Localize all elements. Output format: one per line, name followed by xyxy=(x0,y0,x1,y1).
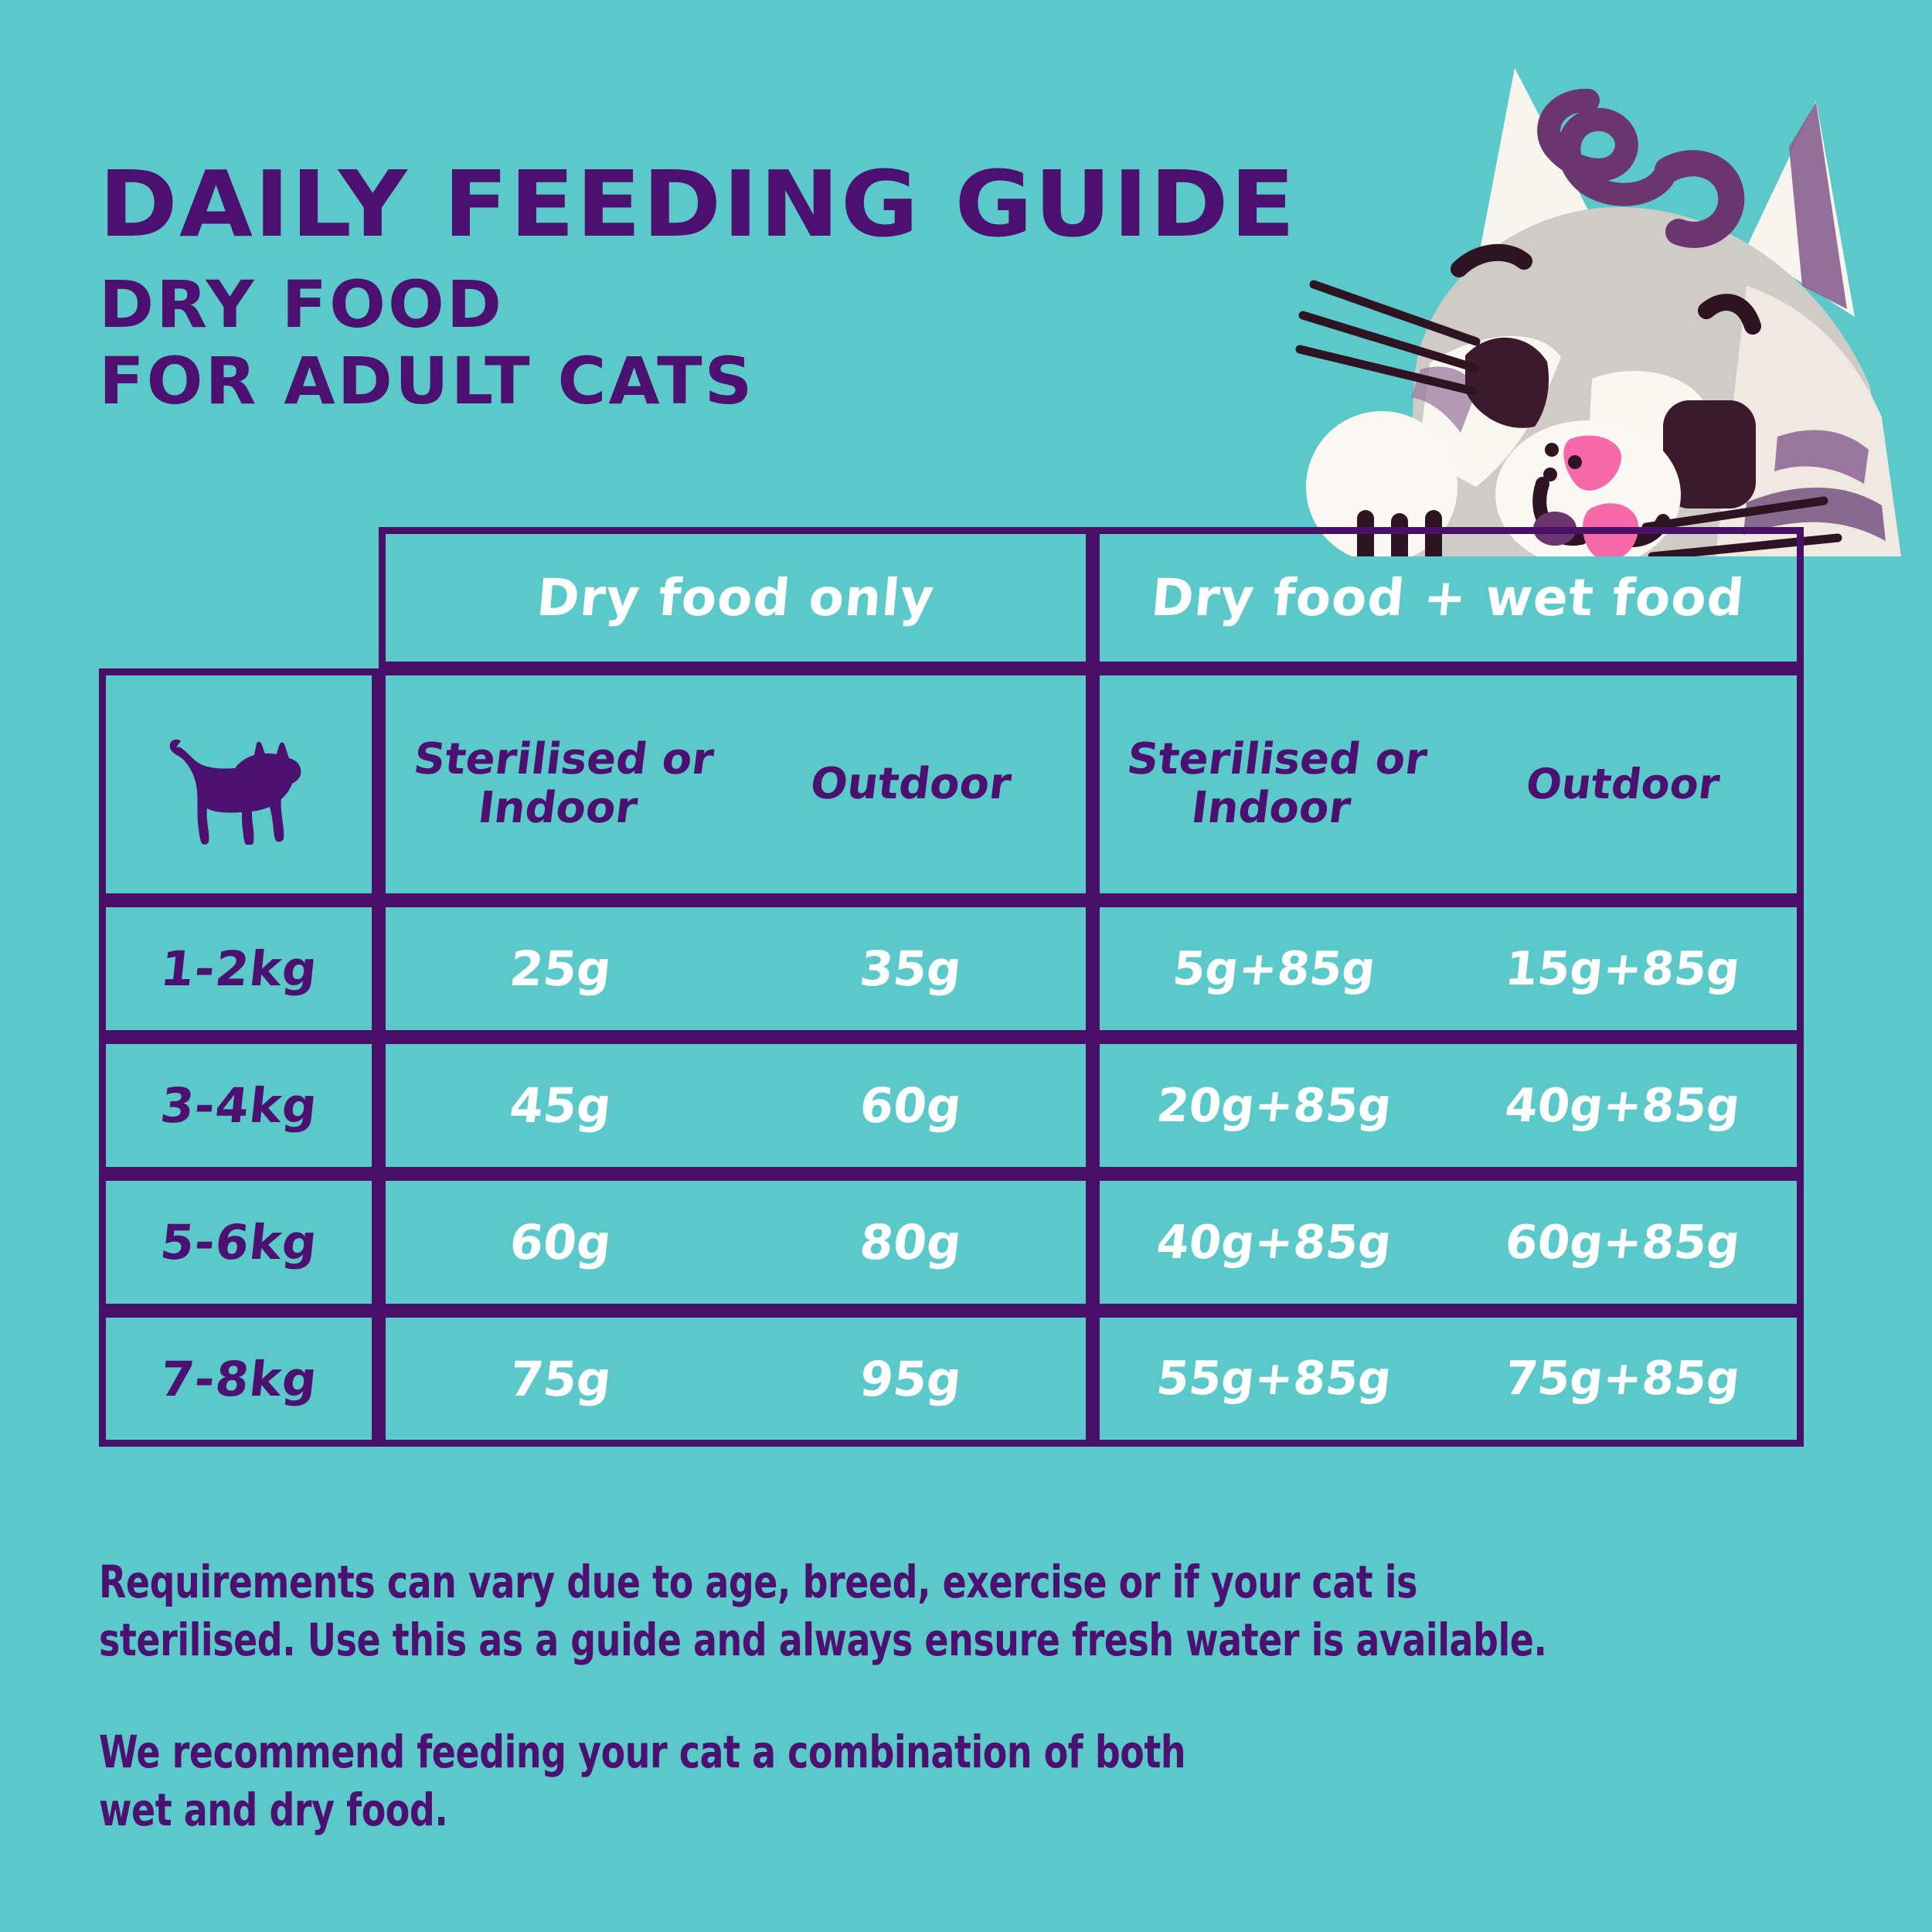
footer-note-text: Requirements can vary due to age, breed,… xyxy=(99,1553,1595,1670)
group-header-label: Dry food only xyxy=(535,568,937,628)
cell-mix-sterilised: 20g+85g xyxy=(1100,1079,1448,1133)
page-subtitle-1: DRY FOOD xyxy=(99,267,1274,343)
weight-label: 3-4kg xyxy=(158,1077,320,1134)
value: 35g xyxy=(857,940,964,997)
page-title: DAILY FEEDING GUIDE xyxy=(99,158,1297,250)
cell-dry-sterilised: 45g xyxy=(386,1077,736,1134)
peeking-cat-illustration xyxy=(1283,54,1932,556)
poster-canvas: DAILY FEEDING GUIDE DRY FOOD FOR ADULT C… xyxy=(0,0,1932,1932)
title-block: DAILY FEEDING GUIDE DRY FOOD FOR ADULT C… xyxy=(99,158,1250,420)
group-header-dry-plus-wet: Dry food + wet food xyxy=(1093,527,1804,668)
value: 80g xyxy=(857,1214,964,1270)
sub-header-cell-outdoor-dry: Outdoor xyxy=(736,760,1086,809)
value: 60g xyxy=(857,1077,964,1134)
row-dry-plus-wet: 20g+85g 40g+85g xyxy=(1093,1037,1804,1174)
cell-mix-outdoor: 15g+85g xyxy=(1448,942,1797,996)
value: 45g xyxy=(507,1077,614,1134)
value: 60g+85g xyxy=(1502,1216,1743,1270)
weight-label: 1-2kg xyxy=(158,940,320,997)
row-dry-only: 75g 95g xyxy=(379,1311,1093,1447)
table-row: 3-4kg xyxy=(99,1037,379,1174)
cell-dry-outdoor: 60g xyxy=(736,1077,1086,1134)
table-corner-cell xyxy=(99,668,379,900)
cell-mix-sterilised: 5g+85g xyxy=(1100,942,1448,996)
value: 55g+85g xyxy=(1154,1352,1394,1406)
footer-note-requirements: Requirements can vary due to age, breed,… xyxy=(99,1553,1799,1670)
value: 75g+85g xyxy=(1502,1352,1743,1406)
footer-note-recommendation: We recommend feeding your cat a combinat… xyxy=(99,1723,1799,1840)
footer-note-text: We recommend feeding your cat a combinat… xyxy=(99,1723,1595,1840)
sub-header-dry-only: Sterilised or Indoor Outdoor xyxy=(379,668,1093,900)
weight-label: 7-8kg xyxy=(158,1351,320,1407)
cell-dry-outdoor: 35g xyxy=(736,940,1086,997)
sub-header-dry-plus-wet: Sterilised or Indoor Outdoor xyxy=(1093,668,1804,900)
group-header-dry-only: Dry food only xyxy=(379,527,1093,668)
sub-header-cell-sterilised-indoor-mix: Sterilised or Indoor xyxy=(1100,736,1448,832)
sub-header-label: Sterilised or Indoor xyxy=(379,736,741,832)
group-header-label: Dry food + wet food xyxy=(1149,568,1747,628)
cell-dry-sterilised: 75g xyxy=(386,1351,736,1407)
cell-mix-outdoor: 60g+85g xyxy=(1448,1216,1797,1270)
cell-dry-sterilised: 25g xyxy=(386,940,736,997)
row-dry-plus-wet: 5g+85g 15g+85g xyxy=(1093,900,1804,1037)
row-dry-only: 25g 35g xyxy=(379,900,1093,1037)
cat-silhouette-icon xyxy=(165,721,312,849)
cell-mix-outdoor: 75g+85g xyxy=(1448,1352,1797,1406)
value: 75g xyxy=(507,1351,614,1407)
row-dry-plus-wet: 55g+85g 75g+85g xyxy=(1093,1311,1804,1447)
value: 15g+85g xyxy=(1502,942,1743,996)
weight-label: 5-6kg xyxy=(158,1214,320,1270)
sub-header-label: Sterilised or Indoor xyxy=(1094,736,1454,832)
cell-dry-outdoor: 95g xyxy=(736,1351,1086,1407)
row-dry-only: 45g 60g xyxy=(379,1037,1093,1174)
table-row: 1-2kg xyxy=(99,900,379,1037)
feeding-guide-table: Dry food only Dry food + wet food Steril… xyxy=(99,527,1804,1447)
cell-dry-sterilised: 60g xyxy=(386,1214,736,1270)
value: 40g+85g xyxy=(1154,1216,1394,1270)
table-row: 7-8kg xyxy=(99,1311,379,1447)
value: 25g xyxy=(507,940,614,997)
cell-mix-outdoor: 40g+85g xyxy=(1448,1079,1797,1133)
cell-mix-sterilised: 40g+85g xyxy=(1100,1216,1448,1270)
table-row: 5-6kg xyxy=(99,1174,379,1311)
value: 95g xyxy=(857,1351,964,1407)
page-subtitle-2: FOR ADULT CATS xyxy=(99,343,1274,420)
sub-header-cell-sterilised-indoor-dry: Sterilised or Indoor xyxy=(386,736,736,832)
sub-header-cell-outdoor-mix: Outdoor xyxy=(1448,761,1797,808)
row-dry-only: 60g 80g xyxy=(379,1174,1093,1311)
value: 5g+85g xyxy=(1170,942,1378,996)
row-dry-plus-wet: 40g+85g 60g+85g xyxy=(1093,1174,1804,1311)
cell-dry-outdoor: 80g xyxy=(736,1214,1086,1270)
value: 20g+85g xyxy=(1154,1079,1394,1133)
cell-mix-sterilised: 55g+85g xyxy=(1100,1352,1448,1406)
sub-header-label: Outdoor xyxy=(1523,761,1722,808)
sub-header-label: Outdoor xyxy=(808,760,1014,809)
value: 40g+85g xyxy=(1502,1079,1743,1133)
value: 60g xyxy=(507,1214,614,1270)
